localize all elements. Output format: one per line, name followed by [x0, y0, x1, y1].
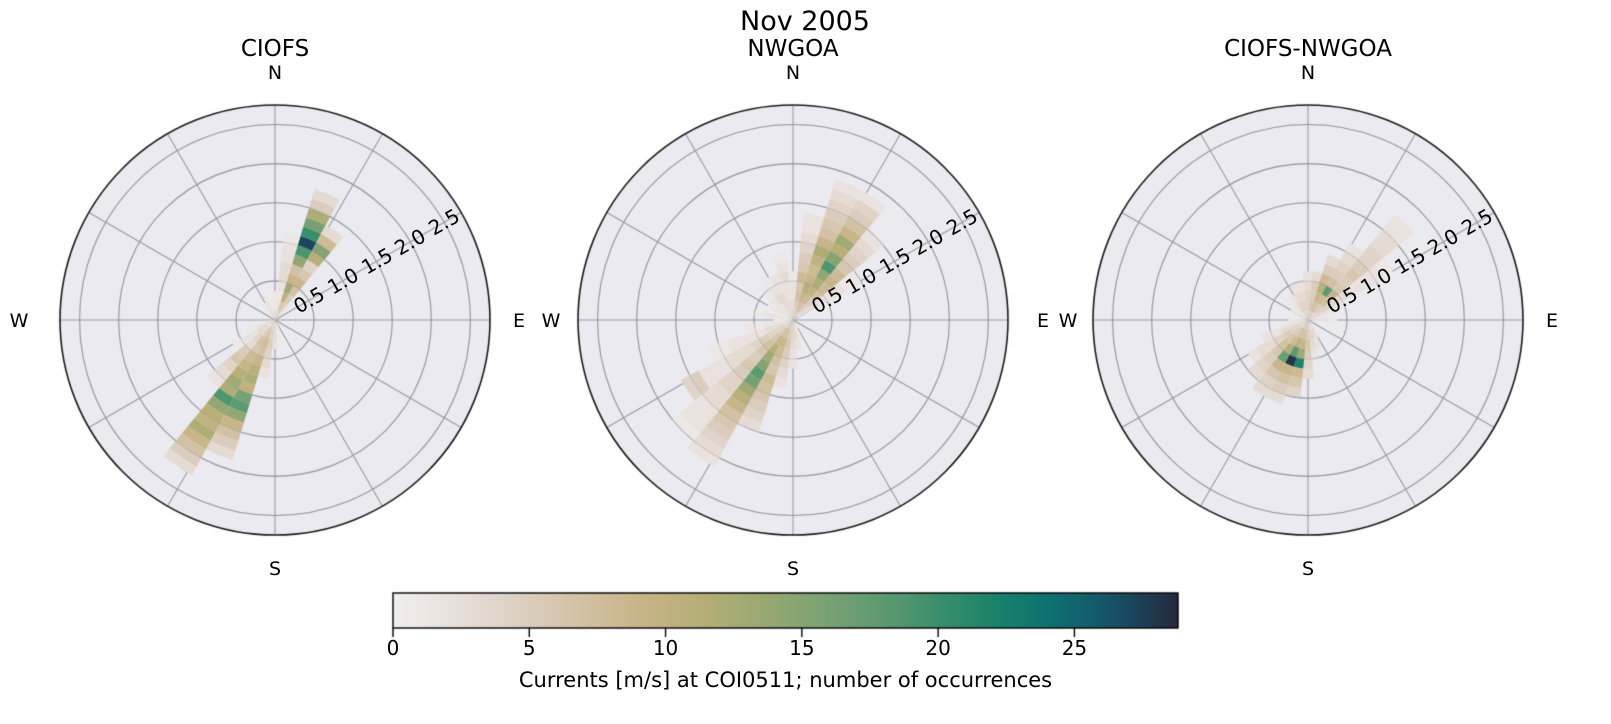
compass-label-south-p2: S	[787, 560, 799, 579]
colorbar-axis-label: Currents [m/s] at COI0511; number of occ…	[519, 670, 1052, 691]
compass-label-east-p3: E	[1546, 312, 1558, 331]
compass-label-west-p1: W	[10, 312, 29, 331]
figure-suptitle: Nov 2005	[740, 8, 870, 35]
colorbar-tick-20: 20	[925, 638, 950, 658]
colorbar-tick-0: 0	[387, 638, 400, 658]
compass-label-south-p1: S	[269, 560, 281, 579]
colorbar-tick-25: 25	[1062, 638, 1087, 658]
compass-label-west-p2: W	[542, 312, 561, 331]
compass-label-north-p2: N	[786, 64, 800, 83]
colorbar-tick-10: 10	[653, 638, 678, 658]
panel-title-ciofs: CIOFS	[241, 38, 309, 61]
compass-label-north-p3: N	[1301, 64, 1315, 83]
panel-title-nwgoa: NWGOA	[747, 38, 838, 61]
colorbar-tick-5: 5	[523, 638, 536, 658]
compass-label-north-p1: N	[268, 64, 282, 83]
compass-label-south-p3: S	[1302, 560, 1314, 579]
windrose-figure	[0, 0, 1611, 724]
compass-label-east-p1: E	[513, 312, 525, 331]
colorbar-tick-15: 15	[789, 638, 814, 658]
compass-label-west-p3: W	[1059, 312, 1078, 331]
panel-title-ciofs-nwgoa: CIOFS-NWGOA	[1224, 38, 1392, 61]
compass-label-east-p2: E	[1037, 312, 1049, 331]
